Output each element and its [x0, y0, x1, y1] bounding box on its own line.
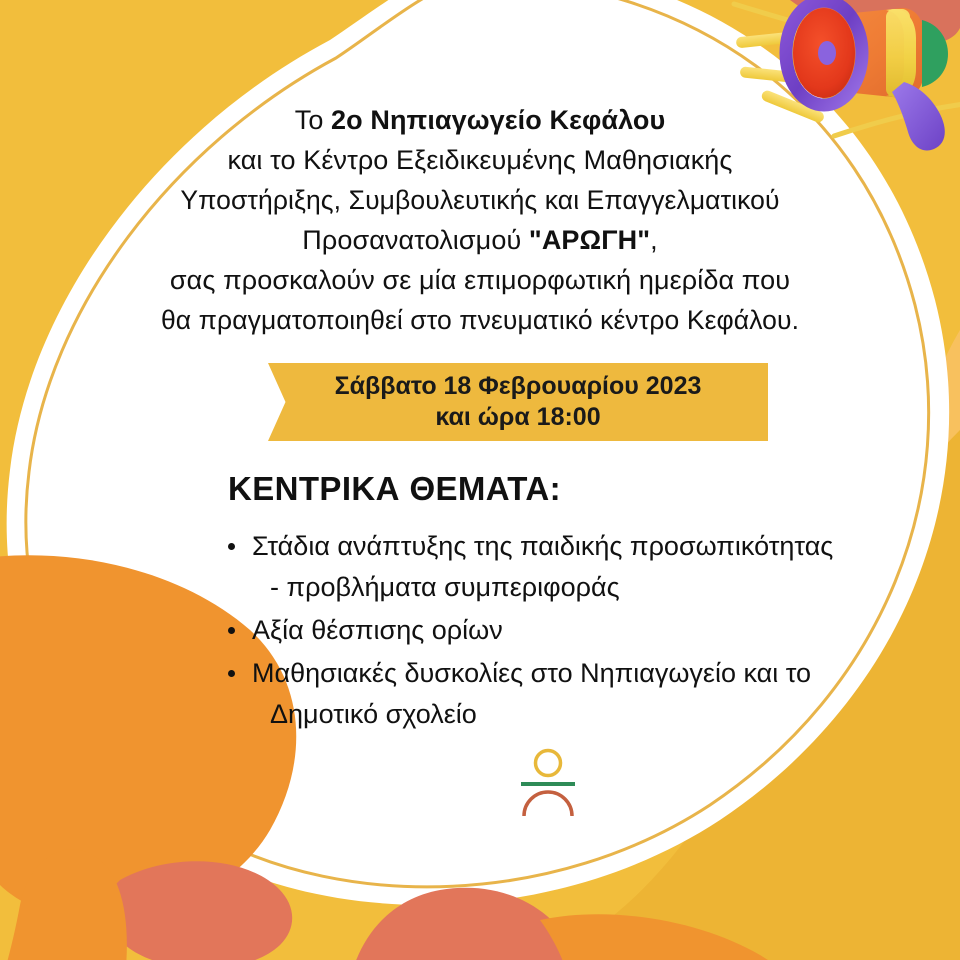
invite-line-4: Προσανατολισμού "ΑΡΩΓΗ", [120, 220, 840, 260]
list-item: Μαθησιακές δυσκολίες στο Νηπιαγωγείο και… [228, 653, 908, 735]
ribbon-text: Σάββατο 18 Φεβρουαρίου 2023 και ώρα 18:0… [268, 363, 768, 441]
invite-line-3: Υποστήριξης, Συμβουλευτικής και Επαγγελμ… [120, 180, 840, 220]
list-item: Στάδια ανάπτυξης της παιδικής προσωπικότ… [228, 526, 908, 608]
ribbon-time-line: και ώρα 18:00 [435, 402, 600, 433]
topics-list: Στάδια ανάπτυξης της παιδικής προσωπικότ… [228, 526, 908, 735]
invite-line-4-plain: Προσανατολισμού [302, 225, 529, 255]
invite-line-1-bold: 2ο Νηπιαγωγείο Κεφάλου [331, 105, 665, 135]
list-item: Αξία θέσπισης ορίων [228, 610, 908, 651]
date-ribbon: Σάββατο 18 Φεβρουαρίου 2023 και ώρα 18:0… [268, 363, 768, 441]
bullet-icon [228, 543, 235, 550]
topic-sub: Δημοτικό σχολείο [252, 694, 908, 735]
topic-main: Στάδια ανάπτυξης της παιδικής προσωπικότ… [252, 531, 833, 561]
topic-sub: - προβλήματα συμπεριφοράς [252, 567, 908, 608]
invite-line-6: θα πραγματοποιηθεί στο πνευματικό κέντρο… [120, 300, 840, 340]
poster-canvas: Το 2ο Νηπιαγωγείο Κεφάλου και το Κέντρο … [0, 0, 960, 960]
topic-main: Αξία θέσπισης ορίων [252, 615, 503, 645]
invite-line-2: και το Κέντρο Εξειδικευμένης Μαθησιακής [120, 140, 840, 180]
bullet-icon [228, 670, 235, 677]
icon-body-arc [524, 792, 572, 816]
person-divider-icon [516, 746, 580, 816]
invite-line-1: Το 2ο Νηπιαγωγείο Κεφάλου [120, 100, 840, 140]
icon-head-circle [536, 751, 561, 776]
invite-line-5: σας προσκαλούν σε μία επιμορφωτική ημερί… [120, 260, 840, 300]
topics-section: ΚΕΝΤΡΙΚΑ ΘΕΜΑΤΑ: Στάδια ανάπτυξης της πα… [228, 470, 908, 737]
invite-line-4-bold: "ΑΡΩΓΗ" [529, 225, 650, 255]
bullet-icon [228, 627, 235, 634]
ribbon-date-line: Σάββατο 18 Φεβρουαρίου 2023 [335, 371, 702, 402]
invite-line-1-plain: Το [295, 105, 331, 135]
topic-main: Μαθησιακές δυσκολίες στο Νηπιαγωγείο και… [252, 658, 811, 688]
topics-heading: ΚΕΝΤΡΙΚΑ ΘΕΜΑΤΑ: [228, 470, 908, 508]
invite-line-4-tail: , [650, 225, 658, 255]
invitation-text-block: Το 2ο Νηπιαγωγείο Κεφάλου και το Κέντρο … [120, 100, 840, 340]
